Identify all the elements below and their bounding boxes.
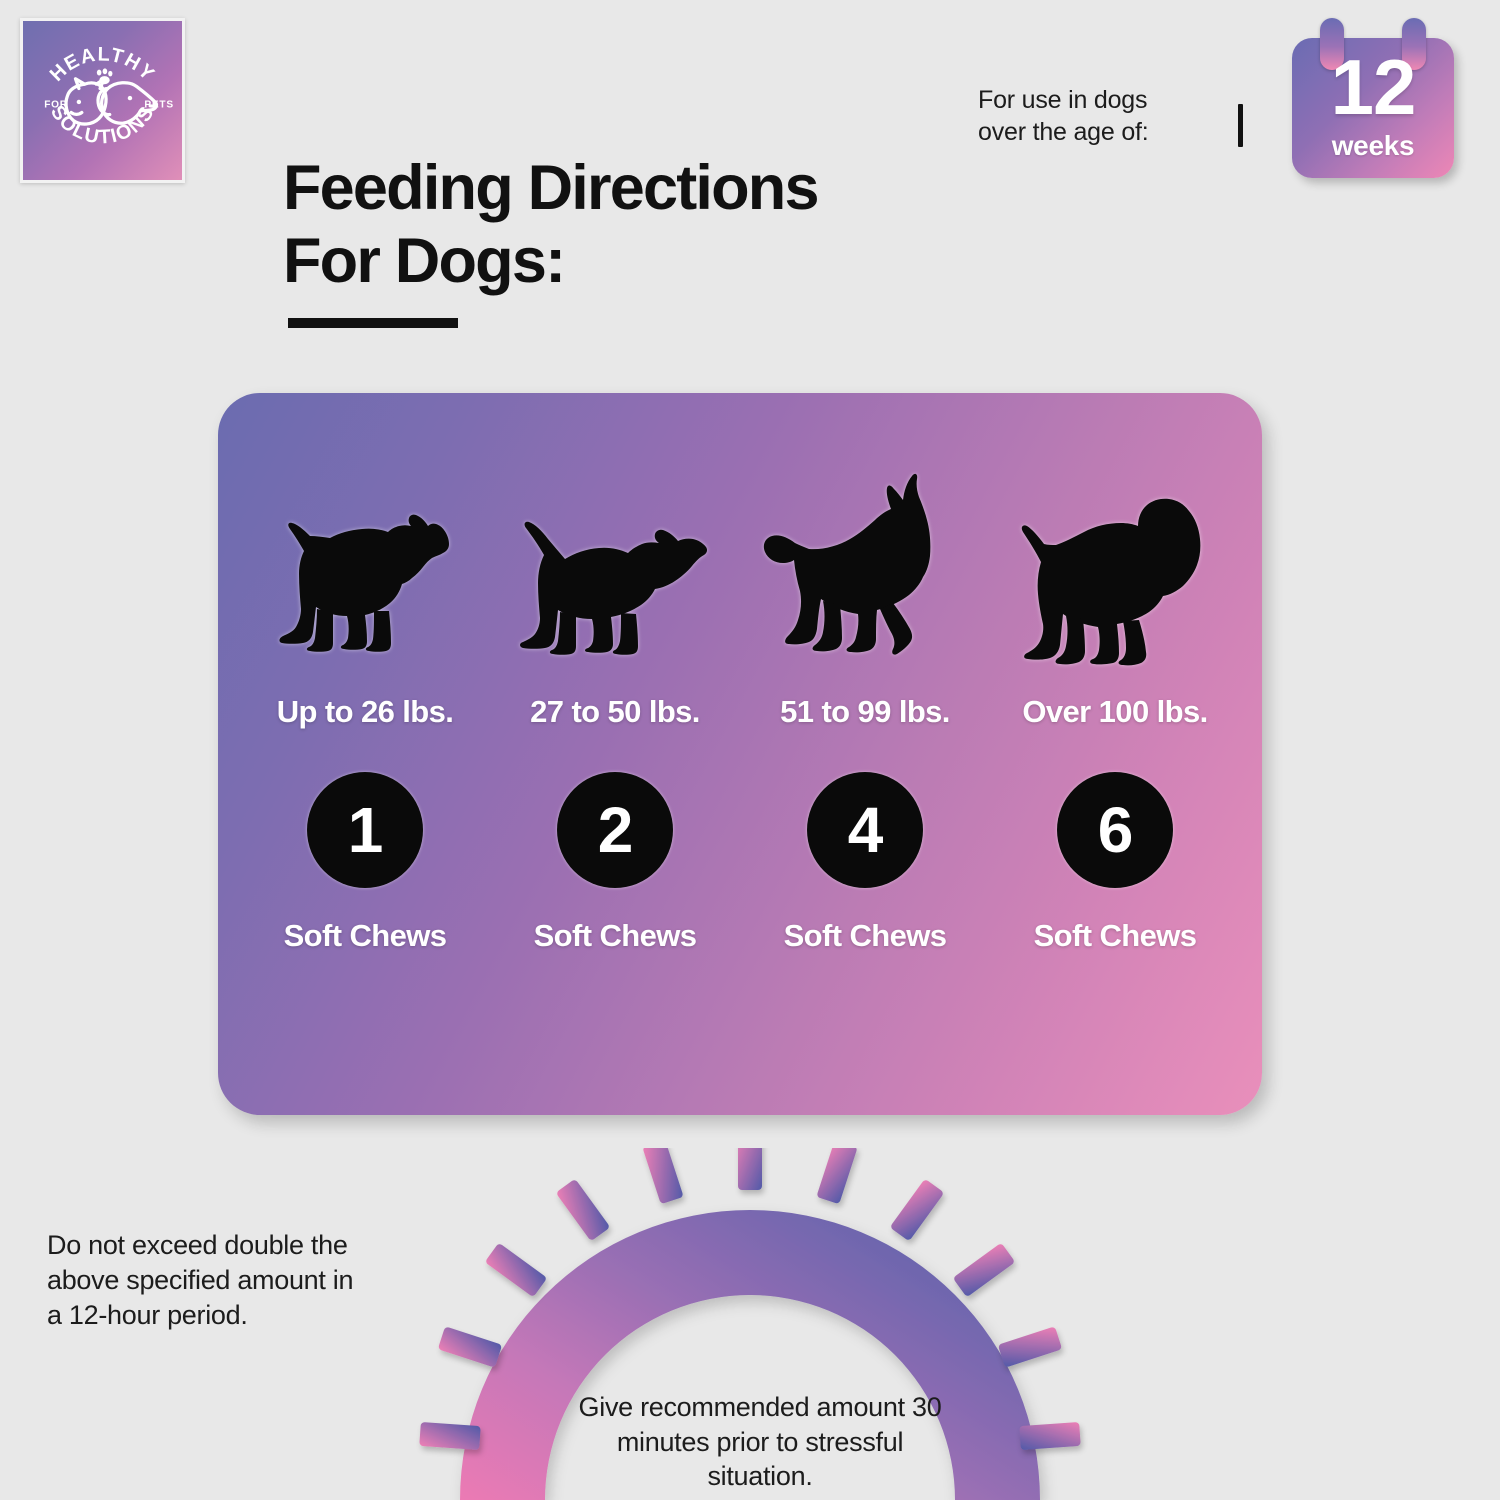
dose-count-value: 1 — [348, 798, 383, 862]
dose-unit-label: Soft Chews — [784, 918, 947, 954]
dose-count-value: 4 — [848, 798, 883, 862]
dose-count-badge: 2 — [557, 772, 673, 888]
medium-dog-silhouette-icon — [518, 451, 713, 666]
cat-head-icon — [66, 79, 106, 124]
weight-range-label: 27 to 50 lbs. — [530, 694, 700, 730]
dose-count-badge: 1 — [307, 772, 423, 888]
page-title: Feeding Directions For Dogs: — [283, 152, 983, 298]
age-requirement-note: For use in dogs over the age of: — [978, 84, 1208, 148]
vertical-divider — [1238, 104, 1243, 147]
calendar-number: 12 — [1292, 48, 1454, 126]
brand-logo: HEALTHY SOLUTIONS FOR PETS — [20, 18, 185, 183]
dosing-column: 51 to 99 lbs. 4 Soft Chews — [740, 393, 990, 1115]
dose-count-value: 6 — [1098, 798, 1133, 862]
calendar-icon: 12 weeks — [1292, 38, 1454, 178]
mastiff-dog-silhouette-icon — [1018, 451, 1213, 666]
timing-instruction-note: Give recommended amount 30 minutes prior… — [575, 1390, 945, 1494]
weight-range-label: 51 to 99 lbs. — [780, 694, 950, 730]
logo-left-text: FOR — [44, 100, 68, 111]
dose-unit-label: Soft Chews — [1034, 918, 1197, 954]
weight-range-label: Over 100 lbs. — [1022, 694, 1207, 730]
age-note-line-2: over the age of: — [978, 116, 1208, 148]
page-title-line-1: Feeding Directions — [283, 153, 818, 223]
dosing-column: 27 to 50 lbs. 2 Soft Chews — [490, 393, 740, 1115]
page-title-line-2: For Dogs: — [283, 226, 564, 296]
german-shepherd-dog-silhouette-icon — [760, 451, 970, 666]
dosing-column: Up to 26 lbs. 1 Soft Chews — [240, 393, 490, 1115]
calendar-unit: weeks — [1292, 130, 1454, 162]
dose-count-badge: 4 — [807, 772, 923, 888]
dose-count-badge: 6 — [1057, 772, 1173, 888]
dosing-column: Over 100 lbs. 6 Soft Chews — [990, 393, 1240, 1115]
title-underline-rule — [288, 318, 458, 328]
dosing-card: Up to 26 lbs. 1 Soft Chews 27 to 50 lbs.… — [218, 393, 1262, 1115]
dose-unit-label: Soft Chews — [284, 918, 447, 954]
weight-range-label: Up to 26 lbs. — [277, 694, 454, 730]
dose-count-value: 2 — [598, 798, 633, 862]
age-note-line-1: For use in dogs — [978, 84, 1208, 116]
dose-unit-label: Soft Chews — [534, 918, 697, 954]
terrier-dog-silhouette-icon — [273, 451, 458, 666]
